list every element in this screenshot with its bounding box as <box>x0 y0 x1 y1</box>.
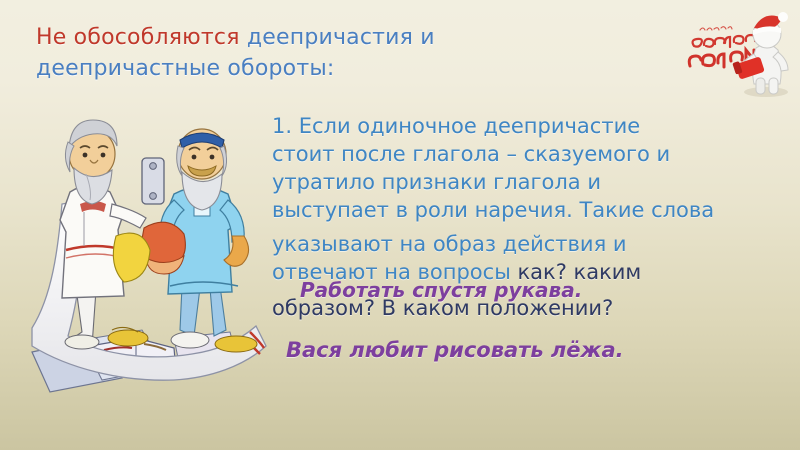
rule-line-5: указывают на образ действия и <box>272 230 627 258</box>
rule-line-4: выступает в роли наречия. Такие слова <box>272 196 714 224</box>
rule-line-3: утратило признаки глагола и <box>272 168 601 196</box>
illustration-two-scribes <box>24 100 292 400</box>
slide-title: Не обособляются деепричастия и деепричас… <box>36 22 506 84</box>
rule-line-1: 1. Если одиночное деепричастие <box>272 112 640 140</box>
wax-tablet <box>142 158 164 204</box>
title-emphasis: Не обособляются <box>36 25 240 50</box>
example-phrase-1: Работать спустя рукава. <box>300 276 582 304</box>
site-watermark-logo[interactable] <box>674 4 792 100</box>
example-phrase-2: Вася любит рисовать лёжа. <box>286 336 624 364</box>
title-line-2: деепричастные обороты: <box>36 56 335 81</box>
title-rest: деепричастия и <box>240 25 435 50</box>
presentation-slide: Не обособляются деепричастия и деепричас… <box>0 0 800 450</box>
rule-line-2: стоит после глагола – сказуемого и <box>272 140 670 168</box>
